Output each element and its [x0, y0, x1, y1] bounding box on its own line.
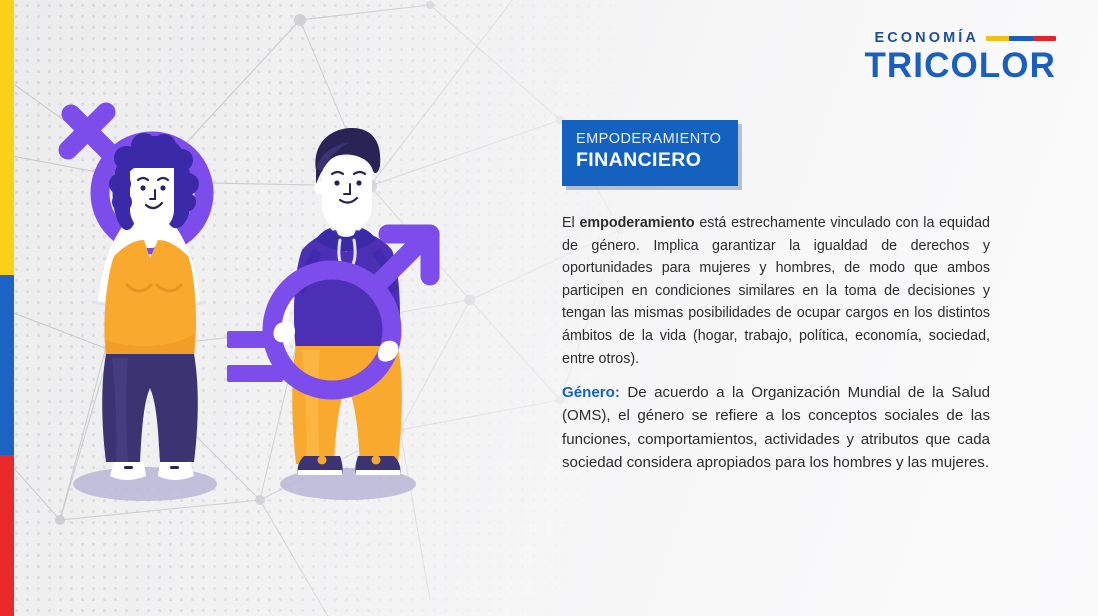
logo-top-row: ECONOMÍA: [864, 30, 1056, 46]
female-shoe-right: [158, 462, 194, 480]
p1-rest: está estrechamente vinculado con la equi…: [562, 215, 990, 367]
p1-bold-term: empoderamiento: [579, 215, 694, 231]
logo-tricolor-bar: [986, 36, 1056, 41]
flag-stripe-yellow: [0, 0, 14, 275]
paragraph-empoderamiento: El empoderamiento está estrechamente vin…: [562, 212, 990, 370]
flag-stripe-red: [0, 455, 14, 616]
brand-logo: ECONOMÍA TRICOLOR: [864, 30, 1056, 83]
p2-rest: De acuerdo a la Organización Mundial de …: [562, 384, 990, 471]
paragraph-genero: Género: De acuerdo a la Organización Mun…: [562, 381, 990, 475]
female-shoe-left: [110, 462, 146, 480]
flag-stripe-blue: [0, 275, 14, 455]
badge-title-text: FINANCIERO: [576, 149, 722, 173]
flag-stripe: [0, 0, 14, 616]
p2-lead-term: Género:: [562, 384, 620, 401]
male-ear: [314, 182, 326, 194]
logo-bar-blue: [1009, 36, 1032, 41]
logo-bar-red: [1033, 36, 1056, 41]
logo-tricolor-text: TRICOLOR: [864, 48, 1056, 83]
logo-bar-yellow: [986, 36, 1009, 41]
logo-economia-text: ECONOMÍA: [874, 30, 979, 46]
section-title-badge: EMPODERAMIENTO FINANCIERO: [562, 120, 738, 186]
badge-kicker-text: EMPODERAMIENTO: [576, 130, 722, 148]
female-top: [104, 240, 196, 356]
p1-prefix: El: [562, 215, 579, 231]
slide-canvas: ECONOMÍA TRICOLOR EMPODERAMIENTO FINANCI…: [0, 0, 1098, 616]
female-figure: [92, 133, 206, 480]
gender-equality-illustration: [40, 88, 510, 518]
